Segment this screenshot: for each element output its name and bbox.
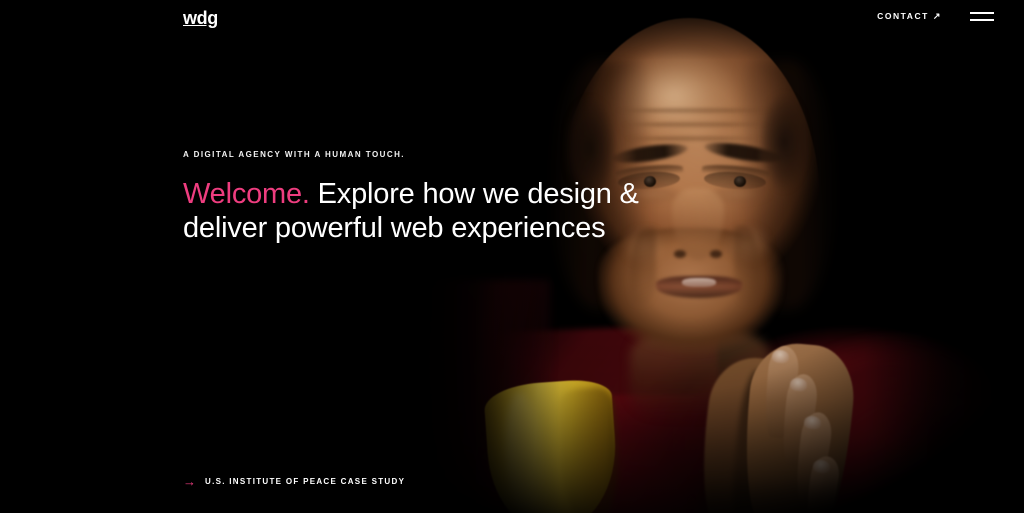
monk-portrait-image [330, 0, 1024, 513]
forehead-wrinkle [620, 122, 770, 127]
teeth [682, 278, 716, 287]
hamburger-line [970, 19, 994, 21]
case-study-link[interactable]: → U.S. INSTITUTE OF PEACE CASE STUDY [183, 475, 405, 488]
wrist-shadow [700, 480, 850, 513]
yellow-sash-shadow [555, 386, 623, 513]
hero-headline: Welcome. Explore how we design & deliver… [183, 178, 653, 246]
forehead-wrinkle [624, 136, 764, 141]
hero-headline-accent: Welcome. [183, 178, 310, 210]
nostril-left [674, 250, 686, 258]
hamburger-line [970, 12, 994, 14]
site-header: wdg CONTACT ↗ [0, 0, 1024, 38]
praying-hands [700, 340, 870, 513]
hero-photo [330, 0, 1024, 513]
hero-content: A DIGITAL AGENCY WITH A HUMAN TOUCH. Wel… [183, 150, 653, 246]
arrow-up-right-icon: ↗ [933, 12, 942, 21]
hamburger-menu-icon[interactable] [970, 12, 994, 21]
nostril-right [710, 250, 722, 258]
pupil-right [734, 176, 746, 187]
forehead-wrinkle [614, 108, 774, 113]
robe-right-highlight [930, 400, 1024, 513]
hero-page: wdg CONTACT ↗ A DIGITAL AGENCY WITH A HU… [0, 0, 1024, 513]
case-study-link-label: U.S. INSTITUTE OF PEACE CASE STUDY [205, 477, 405, 486]
hero-eyebrow: A DIGITAL AGENCY WITH A HUMAN TOUCH. [183, 150, 653, 159]
contact-link[interactable]: CONTACT ↗ [877, 11, 942, 21]
site-logo[interactable]: wdg [183, 9, 218, 27]
contact-link-label: CONTACT [877, 11, 929, 21]
header-nav: CONTACT ↗ [877, 11, 994, 21]
arrow-right-icon: → [183, 475, 196, 488]
